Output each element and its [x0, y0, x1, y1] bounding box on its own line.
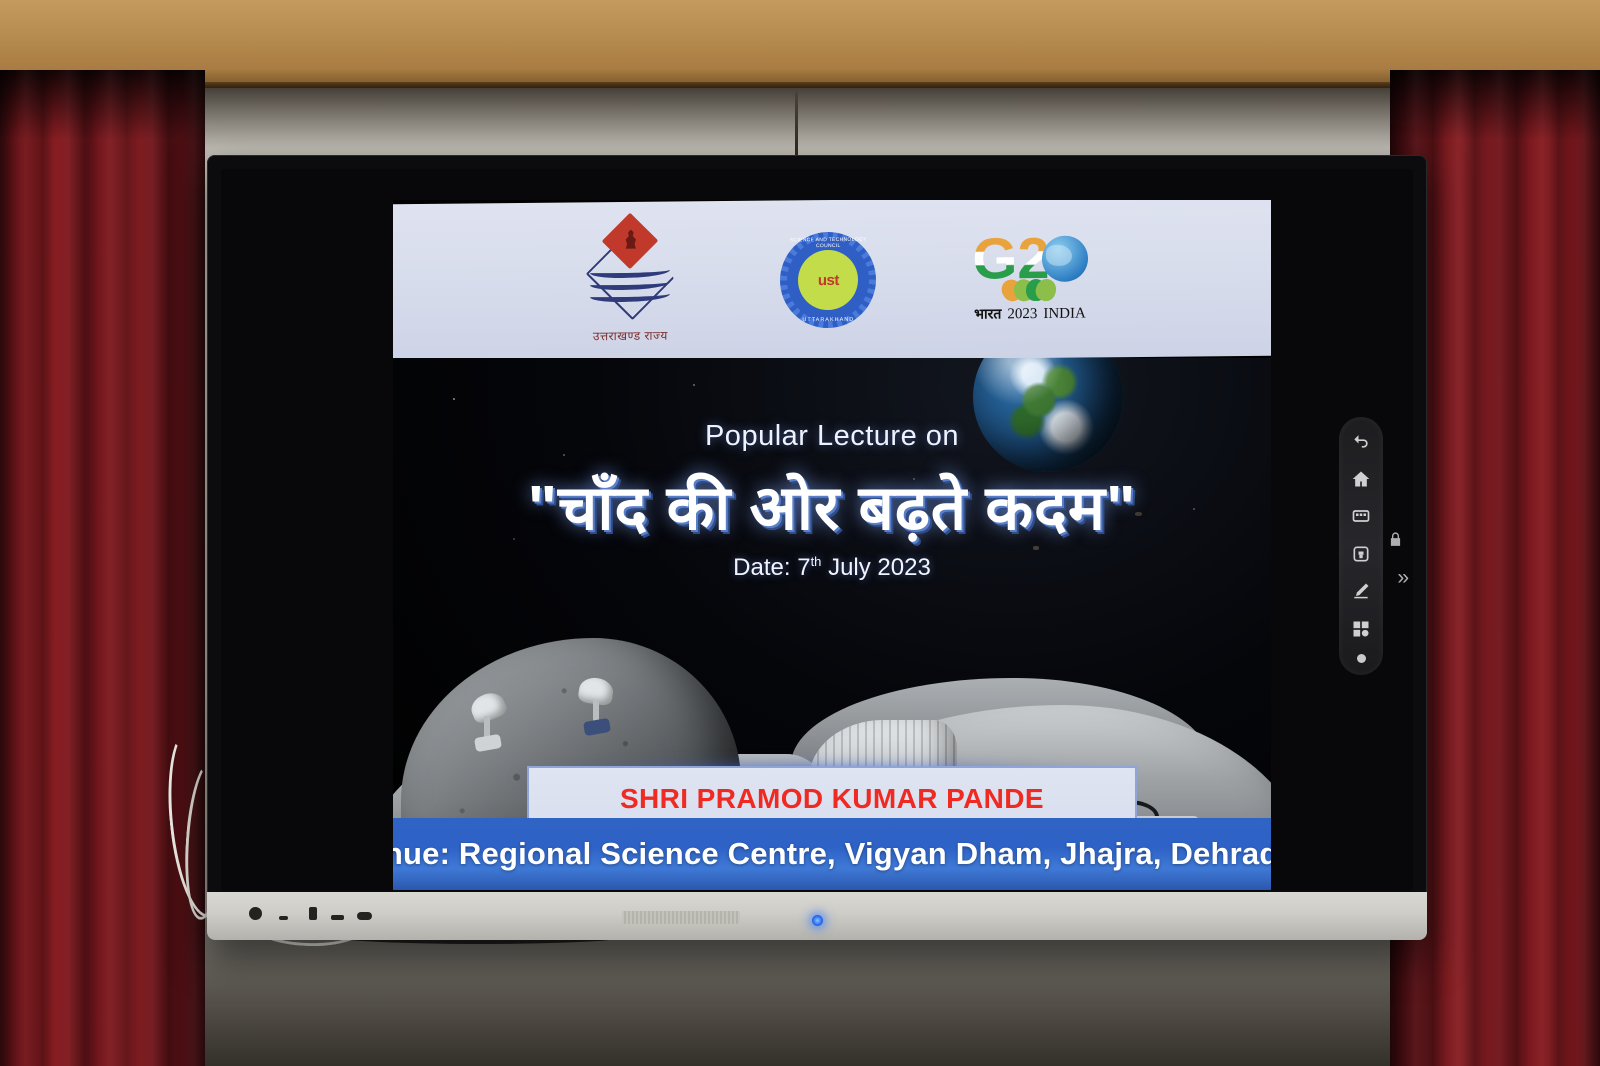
wall-top-shadow [0, 88, 1600, 148]
apps-icon[interactable] [1349, 617, 1373, 641]
logo-band: उत्तराखण्ड राज्य SCIENCE AND TECHNOLOGY … [393, 200, 1271, 364]
port-usb [309, 907, 317, 920]
power-led-indicator [812, 915, 823, 926]
screen[interactable]: उत्तराखण्ड राज्य SCIENCE AND TECHNOLOGY … [393, 200, 1271, 890]
date-ordinal: th [811, 554, 822, 569]
port-small [279, 916, 288, 920]
curtain-left [0, 70, 205, 1066]
cast-icon[interactable] [1349, 542, 1373, 566]
port-power [249, 907, 262, 920]
pen-icon[interactable] [1349, 579, 1373, 603]
venue-bar: Venue: Regional Science Centre, Vigyan D… [393, 818, 1271, 890]
ceiling-wood-trim [0, 0, 1600, 92]
port-aux [357, 912, 372, 920]
panel-bezel: उत्तराखण्ड राज्य SCIENCE AND TECHNOLOGY … [221, 169, 1413, 891]
date-prefix: Date: 7 [733, 554, 810, 581]
speaker-grille [622, 911, 740, 924]
g20-year-text: 2023 [1007, 306, 1037, 323]
uttarakhand-emblem-icon [576, 220, 684, 325]
ucost-logo-icon: SCIENCE AND TECHNOLOGY COUNCIL UTTARAKHA… [780, 232, 876, 329]
port-hdmi [331, 915, 344, 920]
g20-lotus-icon [1002, 275, 1058, 302]
interactive-flat-panel-display[interactable]: उत्तराखण्ड राज्य SCIENCE AND TECHNOLOGY … [207, 155, 1427, 940]
speaker-name: SHRI PRAMOD KUMAR PANDE [620, 783, 1044, 815]
date-suffix: July 2023 [821, 554, 930, 581]
ucost-center-text: ust [818, 271, 839, 288]
logo-ucost: SCIENCE AND TECHNOLOGY COUNCIL UTTARAKHA… [780, 232, 876, 329]
lecture-kicker: Popular Lecture on [393, 420, 1271, 453]
slide-space-area: Popular Lecture on "चाँद की ओर बढ़ते कदम… [393, 358, 1271, 890]
home-icon[interactable] [1349, 467, 1373, 491]
earth-graphic [973, 358, 1123, 472]
presentation-slide: उत्तराखण्ड राज्य SCIENCE AND TECHNOLOGY … [393, 200, 1271, 890]
dot-icon[interactable] [1357, 654, 1366, 663]
ucost-bottom-text: UTTARAKHAND [780, 317, 876, 324]
g20-country-text: INDIA [1043, 306, 1086, 323]
back-icon[interactable] [1349, 429, 1373, 453]
uttarakhand-emblem-caption: उत्तराखण्ड राज्य [593, 326, 668, 344]
expand-chevrons-icon[interactable]: » [1397, 567, 1409, 588]
display-bottom-bezel [207, 892, 1427, 940]
logo-uttarakhand: उत्तराखण्ड राज्य [576, 220, 684, 344]
lock-icon[interactable] [1387, 531, 1407, 551]
event-date: Date: 7th July 2023 [393, 554, 1271, 582]
g20-bharat-text: भारत [974, 304, 1001, 323]
slide-title-hindi: "चाँद की ओर बढ़ते कदम" [393, 464, 1271, 548]
g20-logo-icon: G2 भारत [972, 232, 1087, 323]
logo-g20: G2 भारत [972, 232, 1087, 323]
curtain-folds [0, 70, 205, 1066]
ucost-top-text: SCIENCE AND TECHNOLOGY COUNCIL [780, 237, 876, 250]
venue-text: Venue: Regional Science Centre, Vigyan D… [393, 836, 1271, 872]
room-scene: उत्तराखण्ड राज्य SCIENCE AND TECHNOLOGY … [0, 0, 1600, 1066]
display-side-toolbar[interactable] [1339, 417, 1383, 675]
window-icon[interactable] [1349, 504, 1373, 528]
